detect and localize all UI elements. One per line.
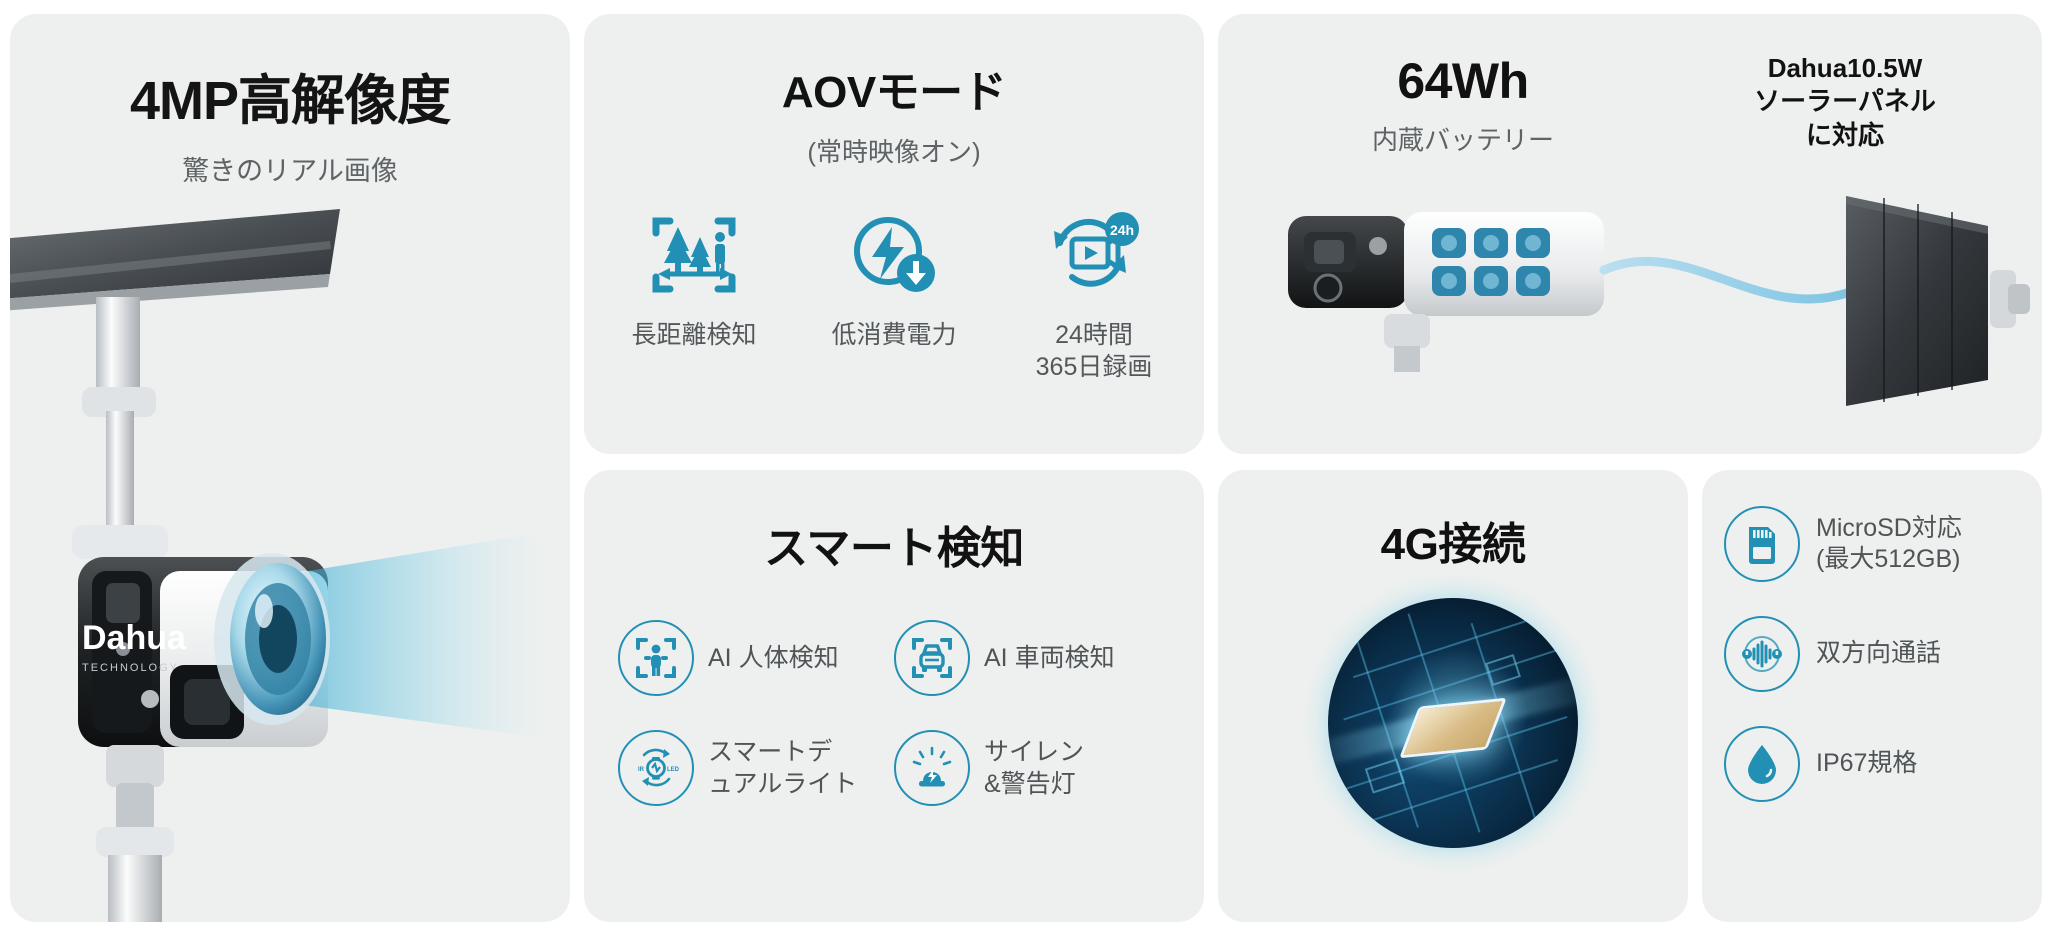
ir-badge-text: IR: [638, 767, 645, 773]
panel-aov-mode: AOVモード (常時映像オン): [584, 14, 1204, 454]
siren-alarm-light-icon: [894, 730, 970, 806]
smart-feature-label: サイレン &警告灯: [984, 736, 1084, 801]
aov-subtitle: (常時映像オン): [584, 132, 1204, 169]
smart-feature-label: AI 車両検知: [984, 642, 1115, 675]
microsd-card-icon: [1724, 506, 1800, 582]
long-distance-detection-icon: [614, 207, 774, 303]
aov-feature-24h-recording: 24h 24時間 365日録画: [1014, 207, 1174, 383]
smart-feature-grid: AI 人体検知 AI 車両検知: [584, 620, 1204, 806]
led-badge-text: LED: [667, 767, 680, 773]
aov-feature-label: 長距離検知: [614, 319, 774, 351]
vehicle-detection-icon: [894, 620, 970, 696]
hero-title: 4MP高解像度: [10, 56, 570, 135]
solar-support-line1: Dahua10.5W: [1678, 52, 2012, 85]
spec-microsd: MicroSD対応 (最大512GB): [1724, 506, 2042, 582]
aov-feature-label: 低消費電力: [814, 319, 974, 351]
aov-title: AOVモード: [584, 56, 1204, 120]
aov-feature-low-power: 低消費電力: [814, 207, 974, 383]
24h-recording-icon: 24h: [1014, 207, 1174, 303]
smart-feature-siren: サイレン &警告灯: [894, 730, 1170, 806]
brand-logo-text: Dahua: [82, 619, 187, 657]
camera-solar-panel-photo: [1218, 174, 2042, 454]
solar-support-line3: に対応: [1678, 119, 2012, 152]
aov-feature-row: 長距離検知 低消費電力: [584, 207, 1204, 383]
smart-feature-label: AI 人体検知: [708, 642, 839, 675]
cellular-title: 4G接続: [1218, 508, 1688, 572]
spec-label: IP67規格: [1816, 748, 1917, 779]
panel-hero-resolution: 4MP高解像度 驚きのリアル画像: [10, 14, 570, 922]
brand-logo-sub: TECHNOLOGY: [82, 662, 179, 674]
solar-support-line2: ソーラーパネル: [1678, 85, 2012, 118]
human-detection-icon: [618, 620, 694, 696]
battery-capacity: 64Wh: [1248, 52, 1678, 110]
aov-feature-long-distance: 長距離検知: [614, 207, 774, 383]
panel-4g-connectivity: 4G接続: [1218, 470, 1688, 922]
smart-feature-vehicle: AI 車両検知: [894, 620, 1170, 696]
panel-specifications: MicroSD対応 (最大512GB): [1702, 470, 2042, 922]
panel-smart-detection: スマート検知: [584, 470, 1204, 922]
spec-ip67: IP67規格: [1724, 726, 2042, 802]
aov-feature-label: 24時間 365日録画: [1014, 319, 1174, 383]
smart-feature-label: スマートデ ュアルライト: [708, 736, 857, 801]
waterproof-drop-icon: [1724, 726, 1800, 802]
infographic-root: 4MP高解像度 驚きのリアル画像: [0, 0, 2052, 936]
dual-light-icon: IR LED: [618, 730, 694, 806]
panel-battery-solar: 64Wh 内蔵バッテリー Dahua10.5W ソーラーパネル に対応: [1218, 14, 2042, 454]
two-way-audio-icon: [1724, 616, 1800, 692]
sim-circuit-board-image: [1328, 598, 1578, 848]
low-power-consumption-icon: [814, 207, 974, 303]
24h-badge-text: 24h: [1110, 222, 1134, 238]
smart-title: スマート検知: [584, 512, 1204, 576]
battery-capacity-sub: 内蔵バッテリー: [1248, 120, 1678, 157]
spec-label: MicroSD対応 (最大512GB): [1816, 513, 1962, 576]
smart-feature-human: AI 人体検知: [618, 620, 894, 696]
camera-product-photo: Dahua TECHNOLOGY: [10, 179, 570, 922]
spec-label: 双方向通話: [1816, 638, 1941, 669]
spec-two-way-audio: 双方向通話: [1724, 616, 2042, 692]
smart-feature-dual-light: IR LED スマートデ ュアルライト: [618, 730, 894, 806]
